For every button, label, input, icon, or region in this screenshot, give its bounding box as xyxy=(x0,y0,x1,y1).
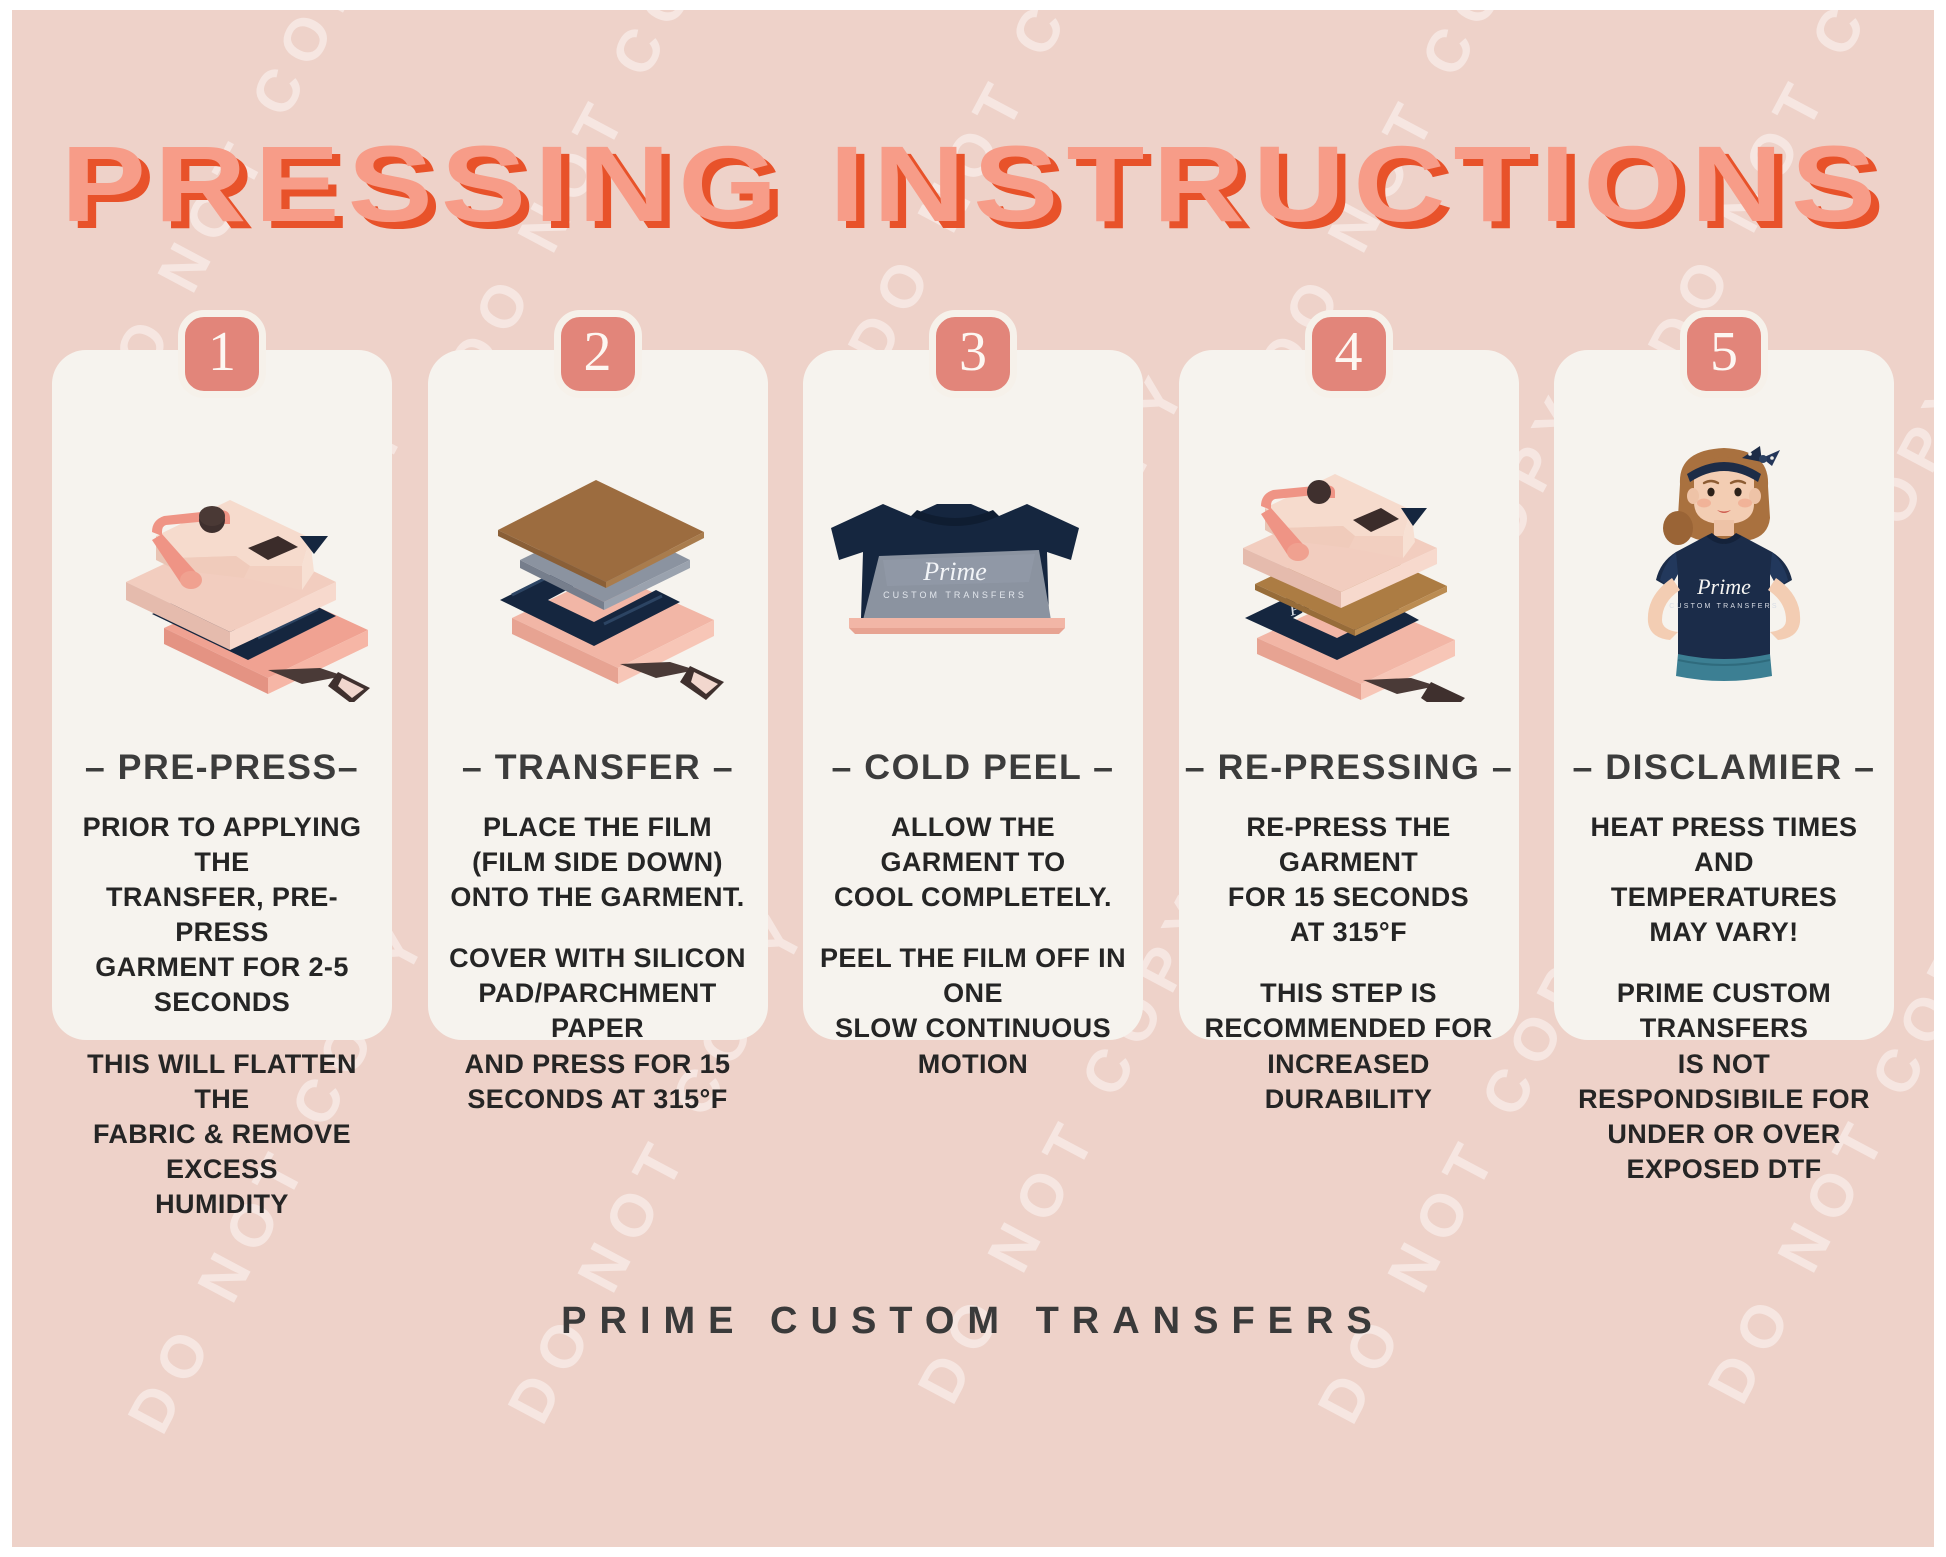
step-badge-3: 3 xyxy=(929,310,1017,398)
steps-row: 1 xyxy=(52,350,1894,1050)
svg-text:CUSTOM TRANSFERS: CUSTOM TRANSFERS xyxy=(883,590,1027,600)
step-heading-5: – DISCLAMIER – xyxy=(1551,748,1898,788)
step-body-3: ALLOW THE GARMENT TO COOL COMPLETELY. PE… xyxy=(819,810,1127,1108)
page-title-front: PRESSING INSTRUCTIONS xyxy=(61,123,1884,244)
poster-canvas: DO NOT COPY DO NOT COPY DO NOT COPY DO N… xyxy=(12,10,1934,1547)
illustration-heat-press-film-layers: Prime xyxy=(428,432,768,702)
step-card-4: 4 Pri xyxy=(1179,350,1519,1040)
illustration-heat-press-closed xyxy=(52,432,392,702)
step-card-5: 5 xyxy=(1554,350,1894,1040)
step-body-5: HEAT PRESS TIMES AND TEMPERATURES MAY VA… xyxy=(1570,810,1878,1213)
step-body-2: PLACE THE FILM (FILM SIDE DOWN) ONTO THE… xyxy=(444,810,752,1143)
step-paragraph: COVER WITH SILICON PAD/PARCHMENT PAPER A… xyxy=(444,941,752,1116)
step-heading-1: – PRE-PRESS– xyxy=(49,748,396,788)
step-card-2: 2 xyxy=(428,350,768,1040)
illustration-tshirt-with-film: Prime CUSTOM TRANSFERS xyxy=(803,432,1143,702)
step-heading-4: – RE-PRESSING – xyxy=(1175,748,1522,788)
step-badge-4: 4 xyxy=(1305,310,1393,398)
step-badge-2: 2 xyxy=(554,310,642,398)
step-paragraph: PEEL THE FILM OFF IN ONE SLOW CONTINUOUS… xyxy=(819,941,1127,1081)
illustration-heat-press-repress-layers: Pri xyxy=(1179,432,1519,702)
step-paragraph: PRIOR TO APPLYING THE TRANSFER, PRE-PRES… xyxy=(68,810,376,1021)
footer-brand: PRIME CUSTOM TRANSFERS xyxy=(12,1300,1934,1343)
step-paragraph: ALLOW THE GARMENT TO COOL COMPLETELY. xyxy=(819,810,1127,915)
step-heading-3: – COLD PEEL – xyxy=(800,748,1147,788)
svg-text:Prime: Prime xyxy=(1696,574,1751,599)
step-paragraph: HEAT PRESS TIMES AND TEMPERATURES MAY VA… xyxy=(1570,810,1878,950)
step-card-1: 1 xyxy=(52,350,392,1040)
step-card-3: 3 Prime CUSTOM TRANSFERS xyxy=(803,350,1143,1040)
step-paragraph: THIS STEP IS RECOMMENDED FOR INCREASED D… xyxy=(1195,976,1503,1116)
step-paragraph: PRIME CUSTOM TRANSFERS IS NOT RESPONDSIB… xyxy=(1570,976,1878,1187)
svg-text:CUSTOM TRANSFERS: CUSTOM TRANSFERS xyxy=(1669,603,1779,610)
step-heading-2: – TRANSFER – xyxy=(424,748,771,788)
step-body-1: PRIOR TO APPLYING THE TRANSFER, PRE-PRES… xyxy=(68,810,376,1248)
svg-text:Prime: Prime xyxy=(922,557,987,586)
page-title: PRESSING INSTRUCTIONS PRESSING INSTRUCTI… xyxy=(12,130,1934,238)
step-paragraph: RE-PRESS THE GARMENT FOR 15 SECONDS AT 3… xyxy=(1195,810,1503,950)
step-body-4: RE-PRESS THE GARMENT FOR 15 SECONDS AT 3… xyxy=(1195,810,1503,1143)
illustration-girl-wearing-shirt: Prime CUSTOM TRANSFERS xyxy=(1554,432,1894,702)
step-paragraph: THIS WILL FLATTEN THE FABRIC & REMOVE EX… xyxy=(68,1047,376,1222)
step-badge-5: 5 xyxy=(1680,310,1768,398)
page-title-text: PRESSING INSTRUCTIONS PRESSING INSTRUCTI… xyxy=(61,130,1884,238)
step-badge-1: 1 xyxy=(178,310,266,398)
step-paragraph: PLACE THE FILM (FILM SIDE DOWN) ONTO THE… xyxy=(444,810,752,915)
